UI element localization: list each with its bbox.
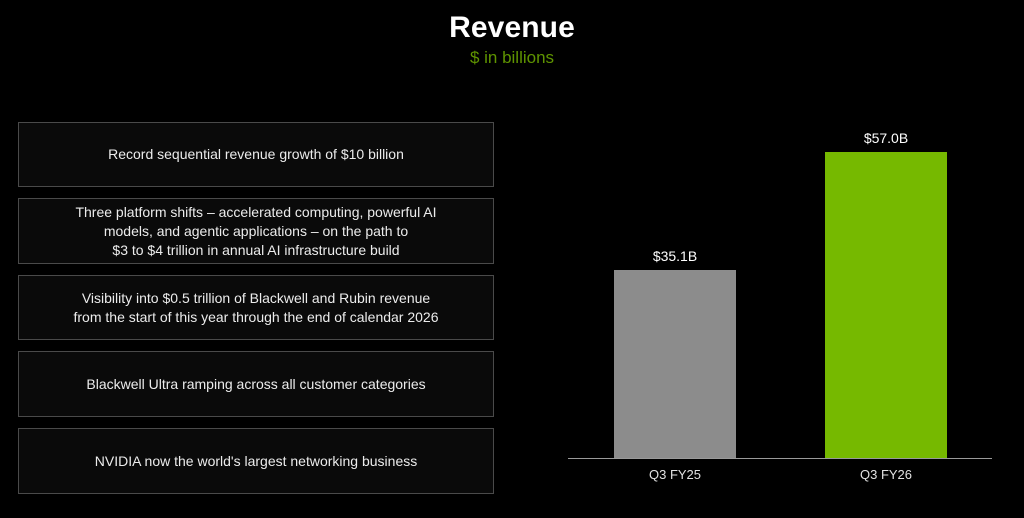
bar-value-label: $57.0B	[825, 130, 947, 147]
bar-q3-fy25	[614, 270, 736, 458]
list-item-text: Visibility into $0.5 trillion of Blackwe…	[74, 289, 439, 327]
slide-root: Revenue $ in billions Record sequential …	[0, 0, 1024, 518]
bar-q3-fy26	[825, 152, 947, 458]
list-item-text: NVIDIA now the world's largest networkin…	[95, 452, 418, 471]
bar-value-label: $35.1B	[614, 248, 736, 265]
list-item: Record sequential revenue growth of $10 …	[18, 122, 494, 187]
x-axis-tick-label: Q3 FY25	[614, 466, 736, 483]
slide-header: Revenue $ in billions	[0, 10, 1024, 69]
page-title: Revenue	[0, 10, 1024, 46]
highlights-list: Record sequential revenue growth of $10 …	[18, 122, 494, 505]
list-item-text: Record sequential revenue growth of $10 …	[108, 145, 404, 164]
list-item: Visibility into $0.5 trillion of Blackwe…	[18, 275, 494, 340]
chart-plot-area: $35.1B $57.0B	[560, 120, 1010, 458]
list-item-text: Blackwell Ultra ramping across all custo…	[86, 375, 425, 394]
list-item: Three platform shifts – accelerated comp…	[18, 198, 494, 264]
x-axis-line	[568, 458, 992, 459]
list-item: Blackwell Ultra ramping across all custo…	[18, 351, 494, 417]
x-axis-tick-label: Q3 FY26	[825, 466, 947, 483]
revenue-bar-chart: $35.1B $57.0B Q3 FY25 Q3 FY26	[560, 120, 1010, 500]
list-item-text: Three platform shifts – accelerated comp…	[75, 203, 436, 260]
list-item: NVIDIA now the world's largest networkin…	[18, 428, 494, 494]
page-subtitle: $ in billions	[0, 47, 1024, 69]
